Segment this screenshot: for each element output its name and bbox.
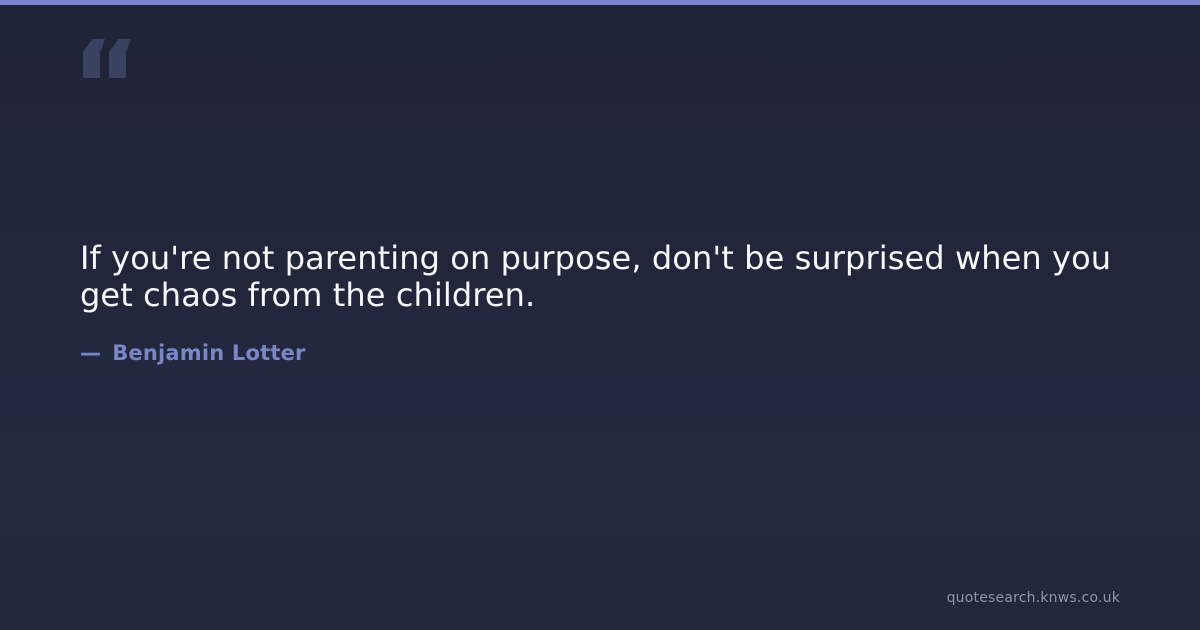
top-accent-bar [0, 0, 1200, 5]
quote-text: If you're not parenting on purpose, don'… [80, 240, 1115, 314]
source-url: quotesearch.knws.co.uk [947, 590, 1120, 606]
author-name: Benjamin Lotter [112, 341, 305, 365]
quote-content: If you're not parenting on purpose, don'… [80, 240, 1120, 365]
quote-attribution: — Benjamin Lotter [80, 341, 1120, 365]
quote-card: If you're not parenting on purpose, don'… [0, 0, 1200, 630]
attribution-dash: — [80, 341, 101, 365]
open-quote-icon [80, 36, 136, 82]
